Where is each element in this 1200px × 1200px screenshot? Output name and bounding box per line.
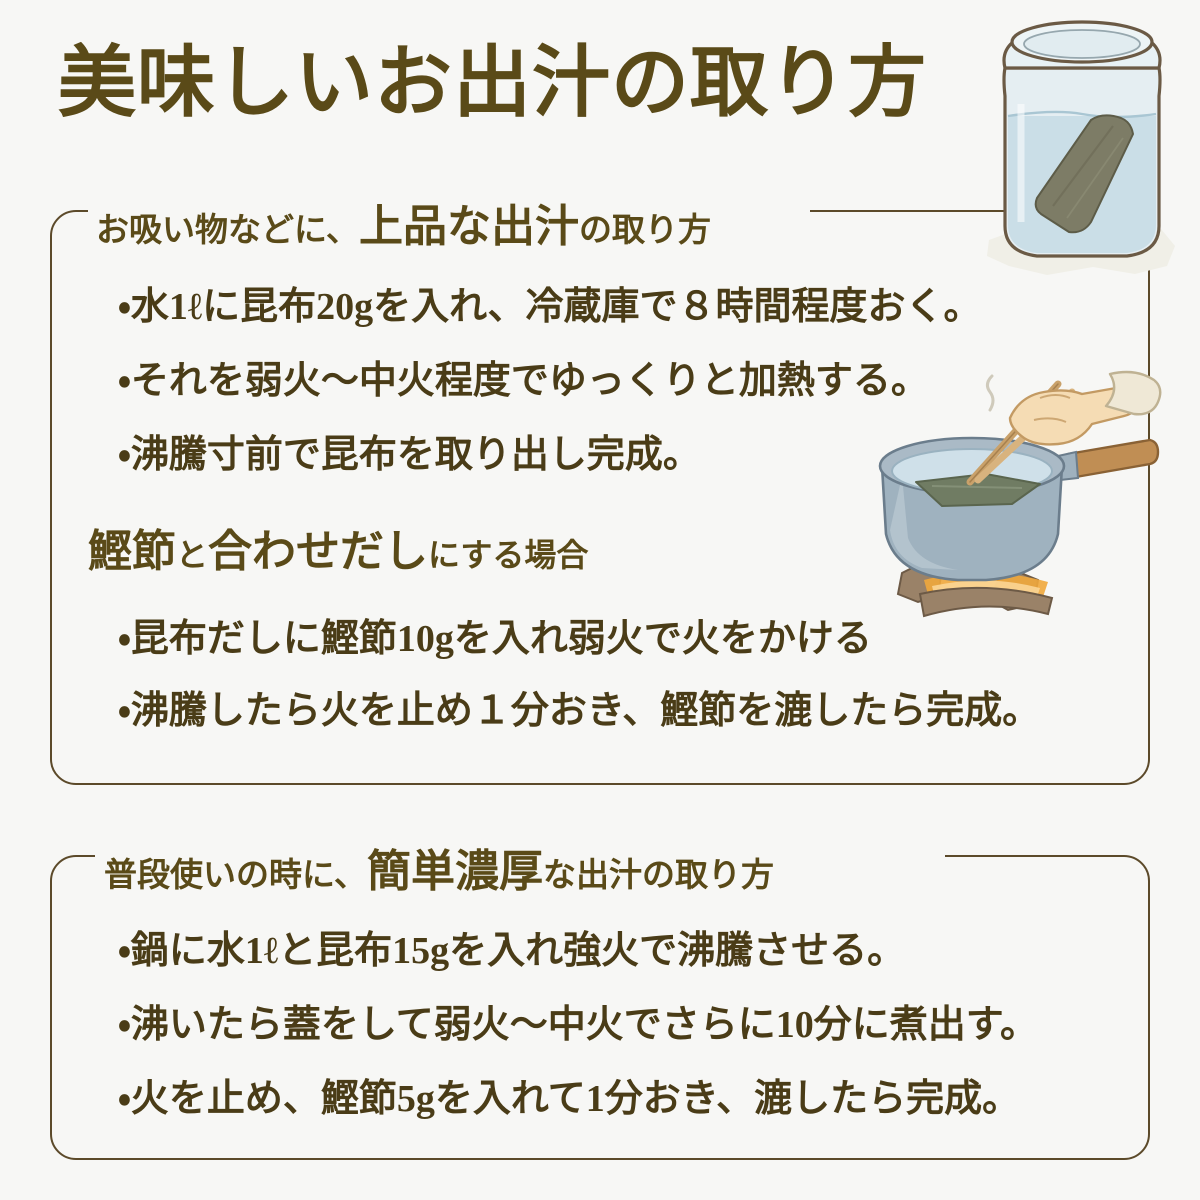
- section-heading-tail: な出汁の取り方: [543, 858, 774, 894]
- subsection-heading-part4: にする場合: [428, 537, 588, 573]
- kombu-texture-line: [1053, 126, 1113, 206]
- subsection-heading-part3: 合わせだし: [208, 527, 428, 576]
- kombu-texture-line: [1067, 138, 1123, 218]
- list-item: ・沸騰寸前で昆布を取り出し完成。: [118, 436, 982, 474]
- list-item: ・火を止め、鰹節5gを入れて1分おき、漉したら完成。: [118, 1080, 1038, 1118]
- list-item: ・鍋に水1ℓと昆布15gを入れ強火で沸騰させる。: [118, 932, 1038, 970]
- jar-neck-shape: [1004, 42, 1160, 68]
- section-heading-elegant-dashi: お吸い物などに、上品な出汁の取り方: [96, 205, 711, 249]
- section-heading-lead: 普段使いの時に、: [104, 858, 367, 894]
- list-item: ・沸いたら蓋をして弱火〜中火でさらに10分に煮出す。: [118, 1006, 1038, 1044]
- jar-border-mask: [1138, 214, 1164, 270]
- bullet-list-katsuobushi-awase-dashi: ・昆布だしに鰹節10gを入れ弱火で火をかける ・沸騰したら火を止め１分おき、鰹節…: [118, 620, 1040, 764]
- jar-rim-shape: [1012, 22, 1152, 62]
- section-heading-tail: の取り方: [579, 213, 711, 249]
- section-heading-easy-rich-dashi: 普段使いの時に、簡単濃厚な出汁の取り方: [104, 850, 774, 894]
- subsection-heading-part2: と: [176, 537, 208, 573]
- section-heading-emphasis: 簡単濃厚: [367, 847, 543, 896]
- subsection-heading-katsuobushi-awase-dashi: 鰹節と合わせだしにする場合: [88, 530, 588, 574]
- bullet-list-elegant-dashi: ・水1ℓに昆布20gを入れ、冷蔵庫で８時間程度おく。 ・それを弱火〜中火程度でゆ…: [118, 288, 982, 510]
- list-item: ・沸騰したら火を止め１分おき、鰹節を漉したら完成。: [118, 692, 1040, 730]
- jar-lid-inner-shape: [1024, 30, 1140, 58]
- bullet-list-easy-rich-dashi: ・鍋に水1ℓと昆布15gを入れ強火で沸騰させる。 ・沸いたら蓋をして弱火〜中火で…: [118, 932, 1038, 1154]
- page-title: 美味しいお出汁の取り方: [58, 44, 927, 122]
- section-heading-emphasis: 上品な出汁: [359, 202, 579, 251]
- list-item: ・昆布だしに鰹節10gを入れ弱火で火をかける: [118, 620, 1040, 658]
- subsection-heading-part1: 鰹節: [88, 527, 176, 576]
- section-heading-lead: お吸い物などに、: [96, 213, 359, 249]
- list-item: ・それを弱火〜中火程度でゆっくりと加熱する。: [118, 362, 982, 400]
- list-item: ・水1ℓに昆布20gを入れ、冷蔵庫で８時間程度おく。: [118, 288, 982, 326]
- water-surface-line: [1008, 112, 1156, 117]
- infographic-page: 美味しいお出汁の取り方 お吸い物などに、上品な出汁の取り方 ・水1ℓに昆布20g…: [0, 0, 1200, 1200]
